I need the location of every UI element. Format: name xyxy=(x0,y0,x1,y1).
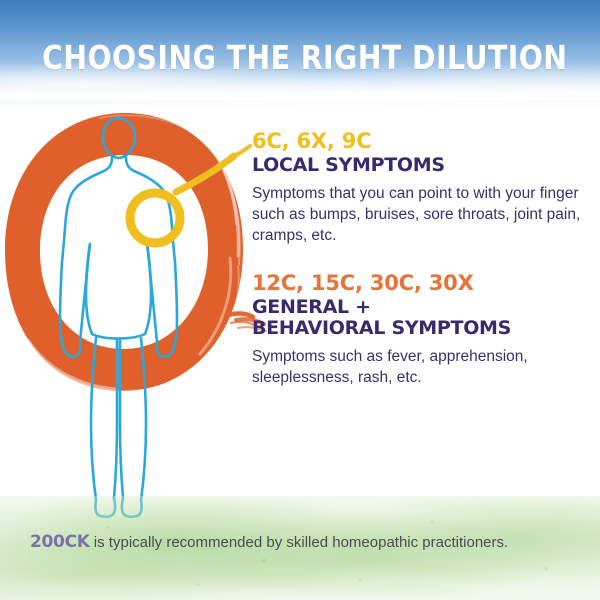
footer-dilution-code: 200CK xyxy=(30,532,90,552)
footer-note: 200CK is typically recommended by skille… xyxy=(30,532,578,552)
dilution-label-general: 12C, 15C, 30C, 30X xyxy=(252,272,588,295)
orange-brush-circle-icon xyxy=(0,108,270,408)
symptom-heading-general-line1: GENERAL + xyxy=(252,296,371,318)
illustration xyxy=(0,108,270,528)
footer-band: 200CK is typically recommended by skille… xyxy=(0,496,600,600)
dilution-label-local: 6C, 6X, 9C xyxy=(252,130,588,153)
infographic-poster: CHOOSING THE RIGHT DILUTION xyxy=(0,0,600,600)
horizon-streak-decoration xyxy=(0,86,600,100)
human-body-outline-icon xyxy=(60,118,177,517)
symptom-heading-local: LOCAL SYMPTOMS xyxy=(252,155,588,176)
dilution-block-local: 6C, 6X, 9C LOCAL SYMPTOMS Symptoms that … xyxy=(252,130,588,246)
dilution-block-general: 12C, 15C, 30C, 30X GENERAL + BEHAVIORAL … xyxy=(252,272,588,388)
symptom-heading-general-line2: BEHAVIORAL SYMPTOMS xyxy=(252,317,511,339)
footer-note-text: is typically recommended by skilled home… xyxy=(90,534,509,551)
dilution-blocks: 6C, 6X, 9C LOCAL SYMPTOMS Symptoms that … xyxy=(252,130,588,405)
symptom-body-local: Symptoms that you can point to with your… xyxy=(252,183,588,246)
page-title: CHOOSING THE RIGHT DILUTION xyxy=(42,38,558,77)
symptom-body-general: Symptoms such as fever, apprehension, sl… xyxy=(252,346,588,388)
symptom-heading-general: GENERAL + BEHAVIORAL SYMPTOMS xyxy=(252,297,588,340)
header-banner: CHOOSING THE RIGHT DILUTION xyxy=(0,0,600,108)
